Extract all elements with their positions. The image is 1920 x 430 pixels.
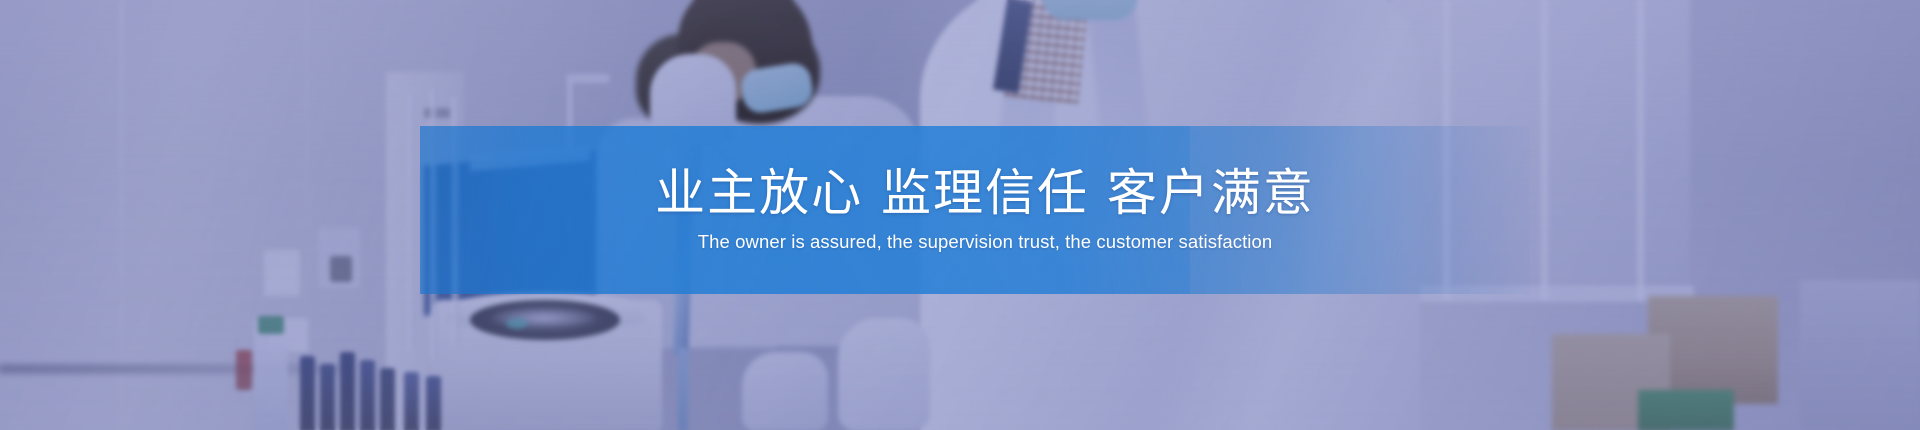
banner-subline: The owner is assured, the supervision tr… (698, 232, 1273, 252)
banner-headline: 业主放心 监理信任 客户满意 (655, 167, 1315, 220)
banner-text-block: 业主放心 监理信任 客户满意 The owner is assured, the… (0, 126, 1920, 294)
hero-banner: 业主放心 监理信任 客户满意 The owner is assured, the… (0, 0, 1920, 430)
